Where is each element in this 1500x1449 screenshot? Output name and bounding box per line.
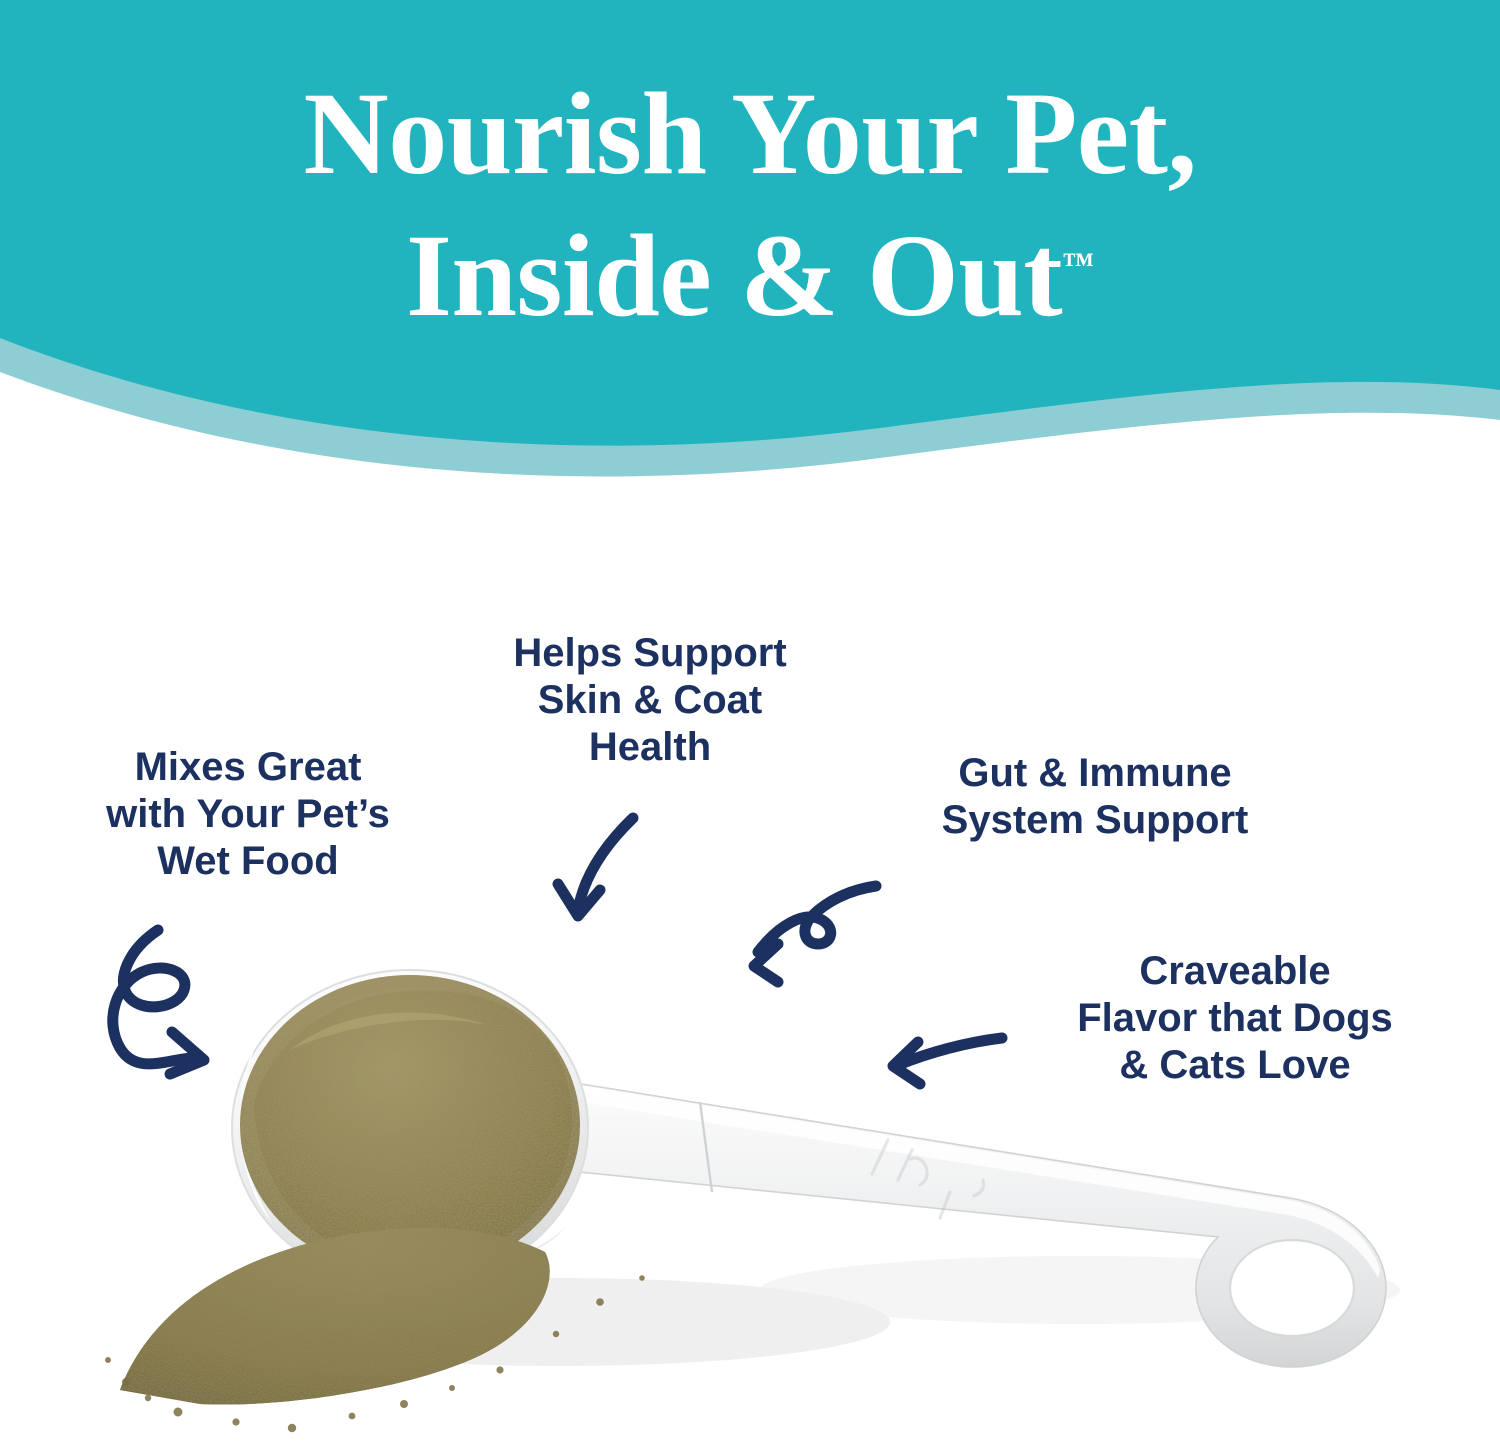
page-title-line-2-text: Inside & Out <box>406 210 1062 341</box>
callout-mixes-great: Mixes Great with Your Pet’s Wet Food <box>48 744 448 886</box>
handle-hanging-hole <box>1230 1240 1354 1336</box>
callout-gut-immune: Gut & Immune System Support <box>860 750 1330 844</box>
callout-skin-coat: Helps Support Skin & Coat Health <box>440 630 860 772</box>
page-title-line-2: Inside & Out™ <box>0 208 1500 344</box>
callout-craveable: Craveable Flavor that Dogs & Cats Love <box>1000 948 1470 1090</box>
curved-down-arrow-icon <box>558 818 633 916</box>
trademark-icon: ™ <box>1062 246 1094 281</box>
spilled-powder-pile <box>90 1210 590 1430</box>
page-title: Nourish Your Pet, Inside & Out™ <box>0 66 1500 343</box>
page-title-line-1: Nourish Your Pet, <box>304 68 1197 199</box>
header-banner: Nourish Your Pet, Inside & Out™ <box>0 0 1500 500</box>
